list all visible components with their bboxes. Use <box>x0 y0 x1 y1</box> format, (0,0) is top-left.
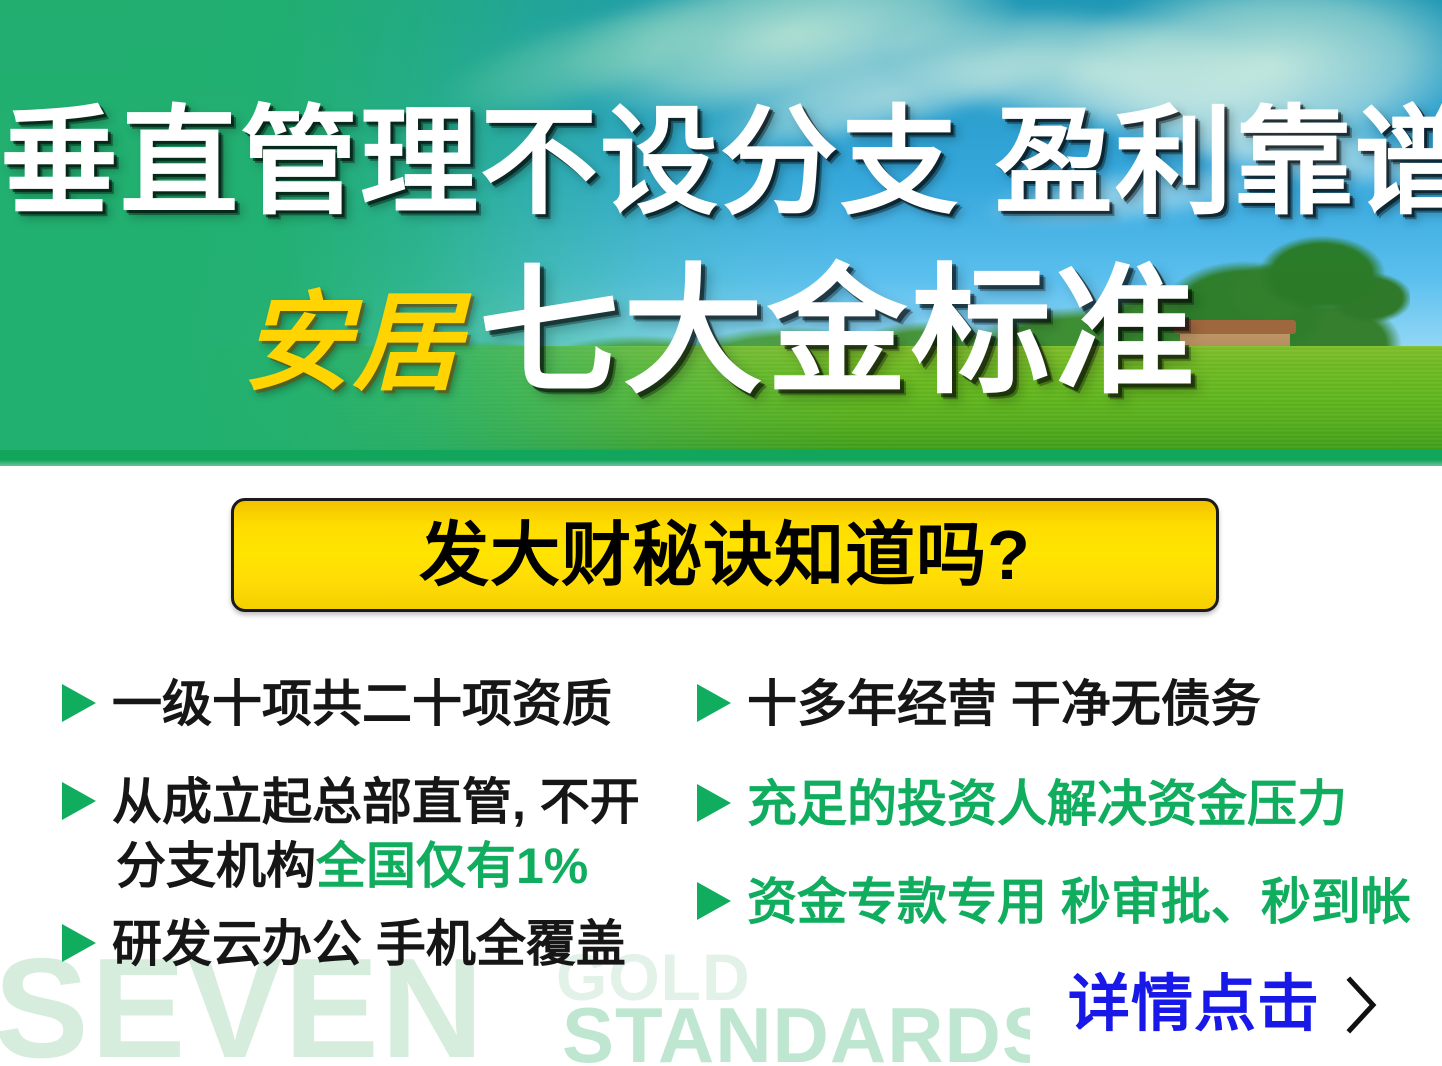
highlight-banner[interactable]: 发大财秘诀知道吗? <box>231 498 1219 612</box>
features-left-column: 一级十项共二十项资质 从成立起总部直管, 不开 分支机构全国仅有1% <box>62 660 692 976</box>
feature-line-accent: 全国仅有1% <box>316 838 588 894</box>
feature-item-ten-years: 十多年经营 干净无债务 <box>697 672 1417 736</box>
feature-text: 一级十项共二十项资质 <box>112 672 612 736</box>
hero-brand-name: 安居 <box>243 282 463 403</box>
features-section: 一级十项共二十项资质 从成立起总部直管, 不开 分支机构全国仅有1% <box>0 660 1442 990</box>
triangle-right-icon <box>697 684 733 722</box>
feature-text: 充足的投资人解决资金压力 <box>747 772 1347 836</box>
feature-text: 资金专款专用 秒审批、秒到帐 <box>747 870 1411 934</box>
hero-bottom-strip <box>0 450 1442 466</box>
feature-item-cloud-office: 研发云办公 手机全覆盖 <box>62 912 692 976</box>
triangle-right-icon <box>697 784 733 822</box>
feature-text: 从成立起总部直管, 不开 分支机构全国仅有1% <box>112 770 640 898</box>
hero-headline-main: 七大金标准 <box>479 253 1199 410</box>
feature-line: 研发云办公 手机全覆盖 <box>112 912 626 976</box>
feature-line: 十多年经营 干净无债务 <box>747 672 1261 736</box>
feature-item-qualifications: 一级十项共二十项资质 <box>62 672 692 736</box>
feature-line: 从成立起总部直管, 不开 <box>112 770 640 834</box>
details-cta-button[interactable]: 详情点击 <box>1068 974 1382 1036</box>
triangle-right-icon <box>697 882 733 920</box>
triangle-right-icon <box>62 924 98 962</box>
feature-text: 十多年经营 干净无债务 <box>747 672 1261 736</box>
feature-text: 研发云办公 手机全覆盖 <box>112 912 626 976</box>
feature-item-headquarters-direct: 从成立起总部直管, 不开 分支机构全国仅有1% <box>62 770 692 898</box>
highlight-banner-label: 发大财秘诀知道吗? <box>419 520 1031 590</box>
feature-line: 一级十项共二十项资质 <box>112 672 612 736</box>
triangle-right-icon <box>62 782 98 820</box>
feature-line: 充足的投资人解决资金压力 <box>747 772 1347 836</box>
feature-line-plain: 分支机构 <box>116 838 316 894</box>
watermark-standards: STANDARDS <box>562 996 1030 1066</box>
hero-headline-secondary: 安居七大金标准 <box>0 262 1442 402</box>
details-cta-label: 详情点击 <box>1068 974 1320 1036</box>
hero-headline-primary: 垂直管理不设分支 盈利靠谱 <box>0 104 1442 222</box>
hero-section: 垂直管理不设分支 盈利靠谱 安居七大金标准 <box>0 0 1442 466</box>
feature-item-investors: 充足的投资人解决资金压力 <box>697 772 1417 836</box>
triangle-right-icon <box>62 684 98 722</box>
feature-line: 资金专款专用 秒审批、秒到帐 <box>747 870 1411 934</box>
feature-item-dedicated-funds: 资金专款专用 秒审批、秒到帐 <box>697 870 1417 934</box>
advertisement-banner: 垂直管理不设分支 盈利靠谱 安居七大金标准 SEVEN GOLD STANDAR… <box>0 0 1442 1066</box>
chevron-right-icon <box>1342 974 1382 1036</box>
feature-line: 分支机构全国仅有1% <box>112 834 640 898</box>
features-right-column: 十多年经营 干净无债务 充足的投资人解决资金压力 <box>697 660 1417 934</box>
